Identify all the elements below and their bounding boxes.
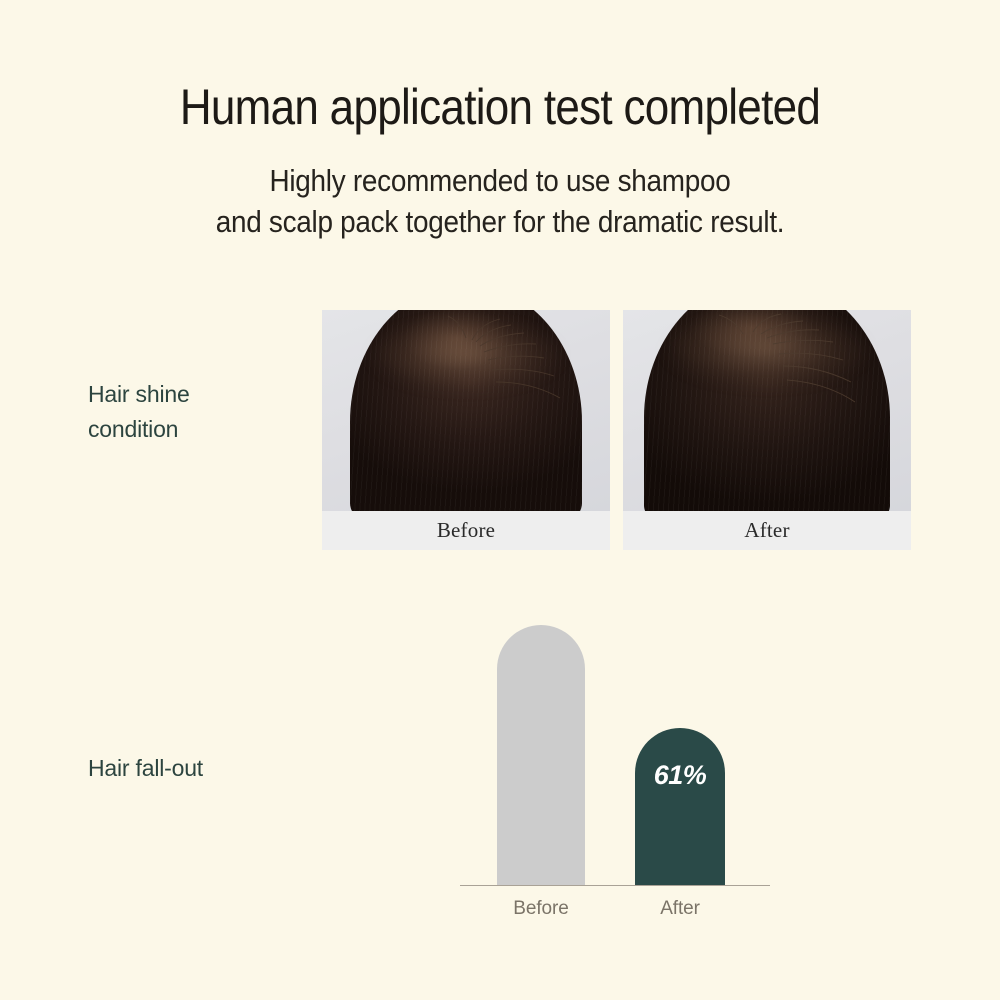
row-label-hair-shine-line-2: condition bbox=[88, 412, 190, 447]
photo-card-after: After bbox=[623, 310, 911, 550]
axis-label-before: Before bbox=[491, 898, 591, 920]
hair-photo-before bbox=[322, 310, 610, 511]
bar-before bbox=[497, 625, 585, 886]
caption-band-before: Before bbox=[322, 511, 610, 550]
before-after-photo-row: Before bbox=[322, 310, 912, 550]
bar-after: 61% bbox=[635, 728, 725, 886]
axis-label-after: After bbox=[630, 898, 730, 920]
chart-baseline-axis bbox=[460, 885, 770, 886]
caption-band-after: After bbox=[623, 511, 911, 550]
page-title: Human application test completed bbox=[60, 76, 940, 138]
row-label-hair-shine: Hair shine condition bbox=[88, 377, 190, 447]
promo-page: Human application test completed Highly … bbox=[0, 0, 1000, 1000]
row-label-hair-fallout: Hair fall-out bbox=[88, 751, 203, 786]
photo-card-before: Before bbox=[322, 310, 610, 550]
photo-caption-before: Before bbox=[437, 518, 495, 543]
photo-caption-after: After bbox=[744, 518, 789, 543]
subtitle-line-1: Highly recommended to use shampoo bbox=[50, 160, 950, 201]
bar-value-label-after: 61% bbox=[635, 760, 725, 791]
hair-fallout-bar-chart: 61% Before After bbox=[455, 615, 775, 925]
row-label-hair-shine-line-1: Hair shine bbox=[88, 377, 190, 412]
header: Human application test completed Highly … bbox=[0, 76, 1000, 242]
page-subtitle: Highly recommended to use shampoo and sc… bbox=[50, 160, 950, 242]
hair-mass-before bbox=[350, 310, 582, 511]
chart-plot-area: 61% bbox=[455, 615, 775, 886]
subtitle-line-2: and scalp pack together for the dramatic… bbox=[50, 201, 950, 242]
chart-axis-labels: Before After bbox=[455, 898, 775, 928]
row-label-hair-fallout-line-1: Hair fall-out bbox=[88, 751, 203, 786]
hair-mass-after bbox=[644, 310, 890, 511]
hair-photo-after bbox=[623, 310, 911, 511]
